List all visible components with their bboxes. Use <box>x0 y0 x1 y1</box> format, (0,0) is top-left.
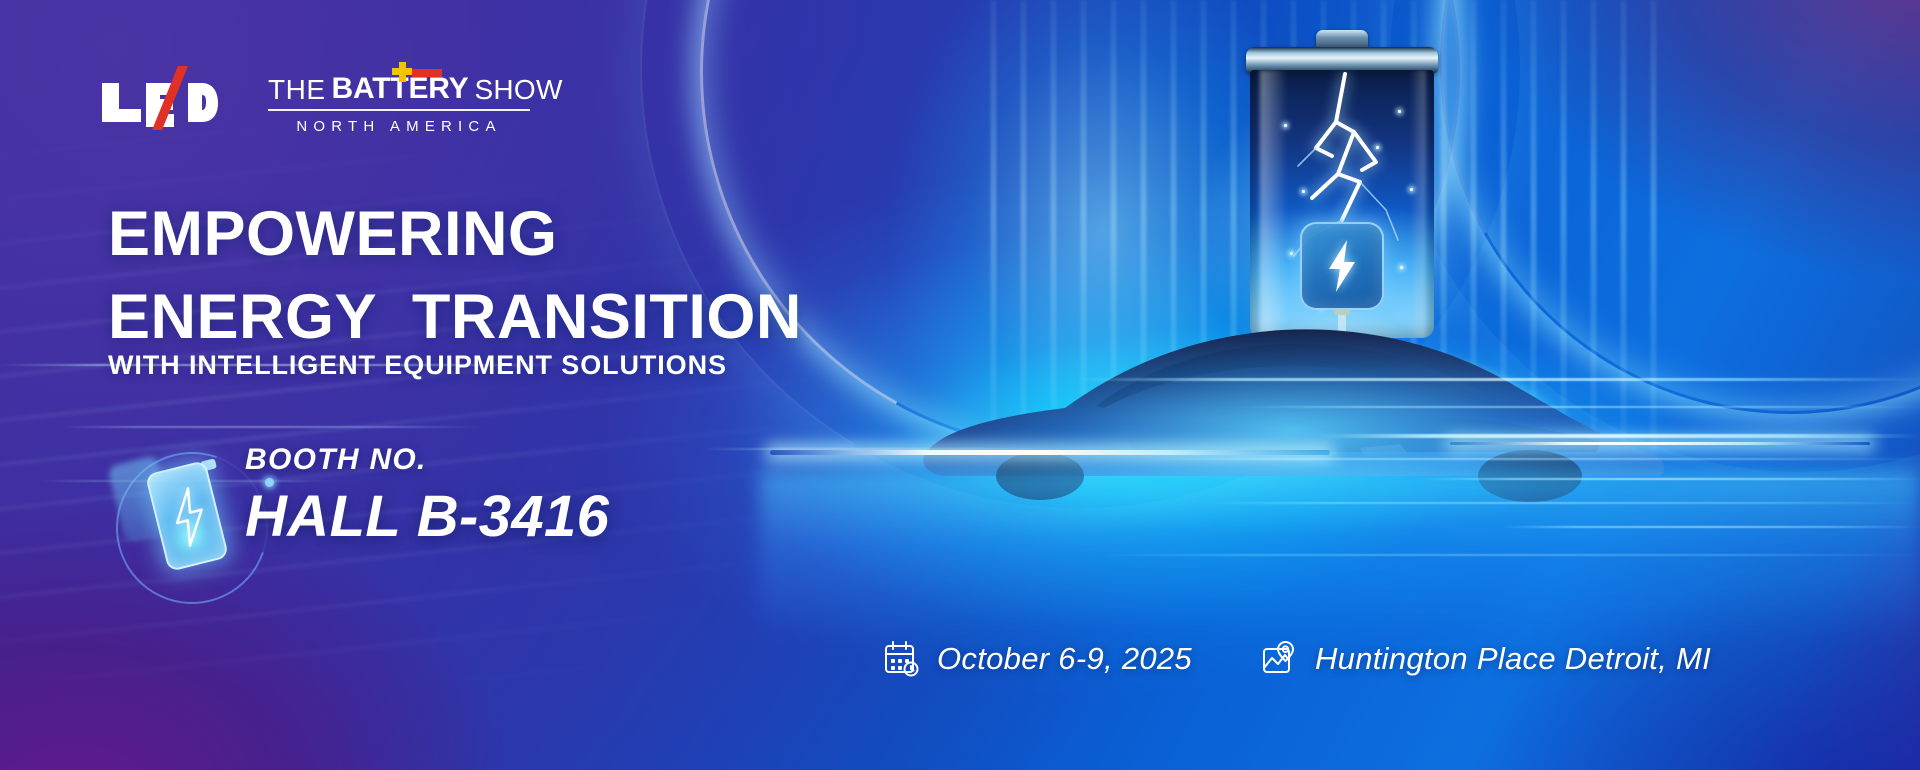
booth-number: HALL B-3416 <box>245 483 609 550</box>
event-location-item: Huntington Place Detroit, MI <box>1262 640 1711 678</box>
lead-logo[interactable] <box>100 63 218 119</box>
logo-region-text: NORTH AMERICA <box>268 118 530 135</box>
map-pin-icon <box>1262 640 1298 678</box>
minus-mark-icon <box>412 69 442 77</box>
logo-show-text: SHOW <box>474 76 562 104</box>
event-banner: THE BATTERY SHOW NORTH AMERICA EMPOWERIN… <box>0 0 1920 770</box>
battery-show-logo[interactable]: THE BATTERY SHOW NORTH AMERICA <box>268 63 530 135</box>
logo-battery-text: BATTERY <box>332 74 469 104</box>
lead-logo-icon <box>100 63 218 133</box>
headline-line-2: ENERGY TRANSITION <box>108 286 802 349</box>
event-location-text: Huntington Place Detroit, MI <box>1315 641 1711 677</box>
event-meta: October 6-9, 2025 Huntington Place Detro… <box>884 640 1711 678</box>
logo-group: THE BATTERY SHOW NORTH AMERICA <box>100 63 530 135</box>
calendar-icon <box>884 640 920 678</box>
logo-divider <box>268 109 530 111</box>
event-date-item: October 6-9, 2025 <box>884 640 1192 678</box>
booth-block: BOOTH NO. HALL B-3416 <box>245 443 609 550</box>
headline-line-1: EMPOWERING <box>108 203 802 266</box>
event-date-text: October 6-9, 2025 <box>937 641 1192 677</box>
plus-mark-icon <box>392 62 412 82</box>
logo-the-text: THE <box>268 76 326 104</box>
subheadline: WITH INTELLIGENT EQUIPMENT SOLUTIONS <box>108 350 727 381</box>
booth-label: BOOTH NO. <box>245 443 609 477</box>
headline: EMPOWERING ENERGY TRANSITION <box>108 203 802 349</box>
